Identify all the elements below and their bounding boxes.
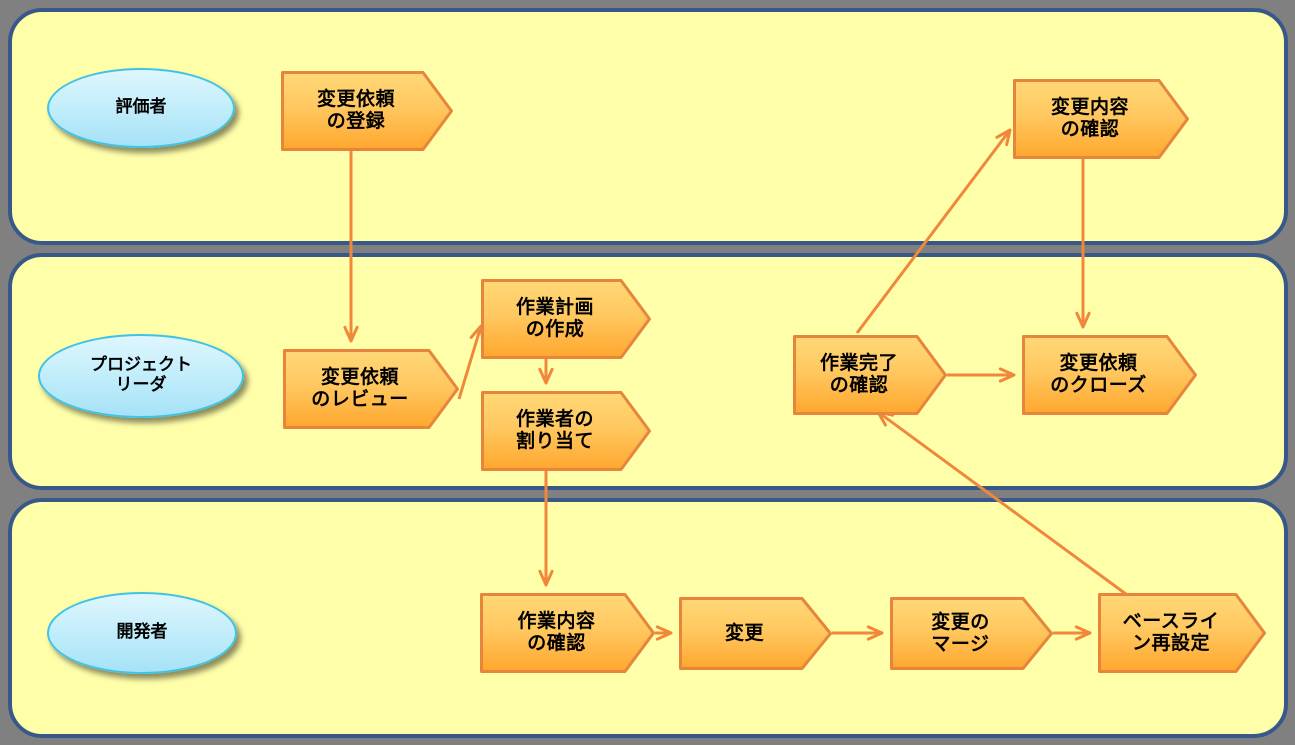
process-node-n10[interactable]: 変更依頼 のクローズ: [1022, 335, 1197, 415]
process-node-label: ベースライ ン再設定: [1123, 611, 1242, 655]
process-node-label: 変更依頼 のレビュー: [311, 367, 431, 411]
process-node-n5[interactable]: 作業内容 の確認: [480, 593, 655, 673]
process-node-label: 変更の マージ: [931, 612, 1012, 656]
process-node-n8[interactable]: 変更内容 の確認: [1013, 79, 1189, 159]
process-node-n4[interactable]: 作業者の 割り当て: [481, 391, 651, 471]
process-node-label: 作業者の 割り当て: [516, 409, 616, 453]
process-node-label: 作業完了 の確認: [820, 353, 920, 397]
diagram-canvas: 評価者プロジェクト リーダ開発者 変更依頼 の登録変更内容 の確認変更依頼 のレ…: [0, 0, 1295, 745]
process-node-label: 変更依頼 の登録: [317, 89, 417, 133]
process-node-n3[interactable]: 作業計画 の作成: [481, 279, 651, 359]
process-node-n1[interactable]: 変更依頼 の登録: [281, 71, 453, 151]
process-node-n9[interactable]: 作業完了 の確認: [793, 335, 947, 415]
process-node-label: 作業内容 の確認: [517, 611, 617, 655]
process-node-n6[interactable]: 変更: [679, 597, 832, 670]
process-node-label: 変更: [725, 623, 786, 645]
process-node-label: 作業計画 の作成: [516, 297, 616, 341]
process-node-n7[interactable]: 変更の マージ: [890, 597, 1053, 670]
process-node-label: 変更内容 の確認: [1051, 97, 1151, 141]
process-node-label: 変更依頼 のクローズ: [1050, 353, 1169, 397]
process-nodes-layer: 変更依頼 の登録変更内容 の確認変更依頼 のレビュー作業計画 の作成作業者の 割…: [0, 0, 1295, 745]
process-node-n2[interactable]: 変更依頼 のレビュー: [283, 349, 459, 429]
process-node-n11[interactable]: ベースライ ン再設定: [1098, 593, 1266, 673]
